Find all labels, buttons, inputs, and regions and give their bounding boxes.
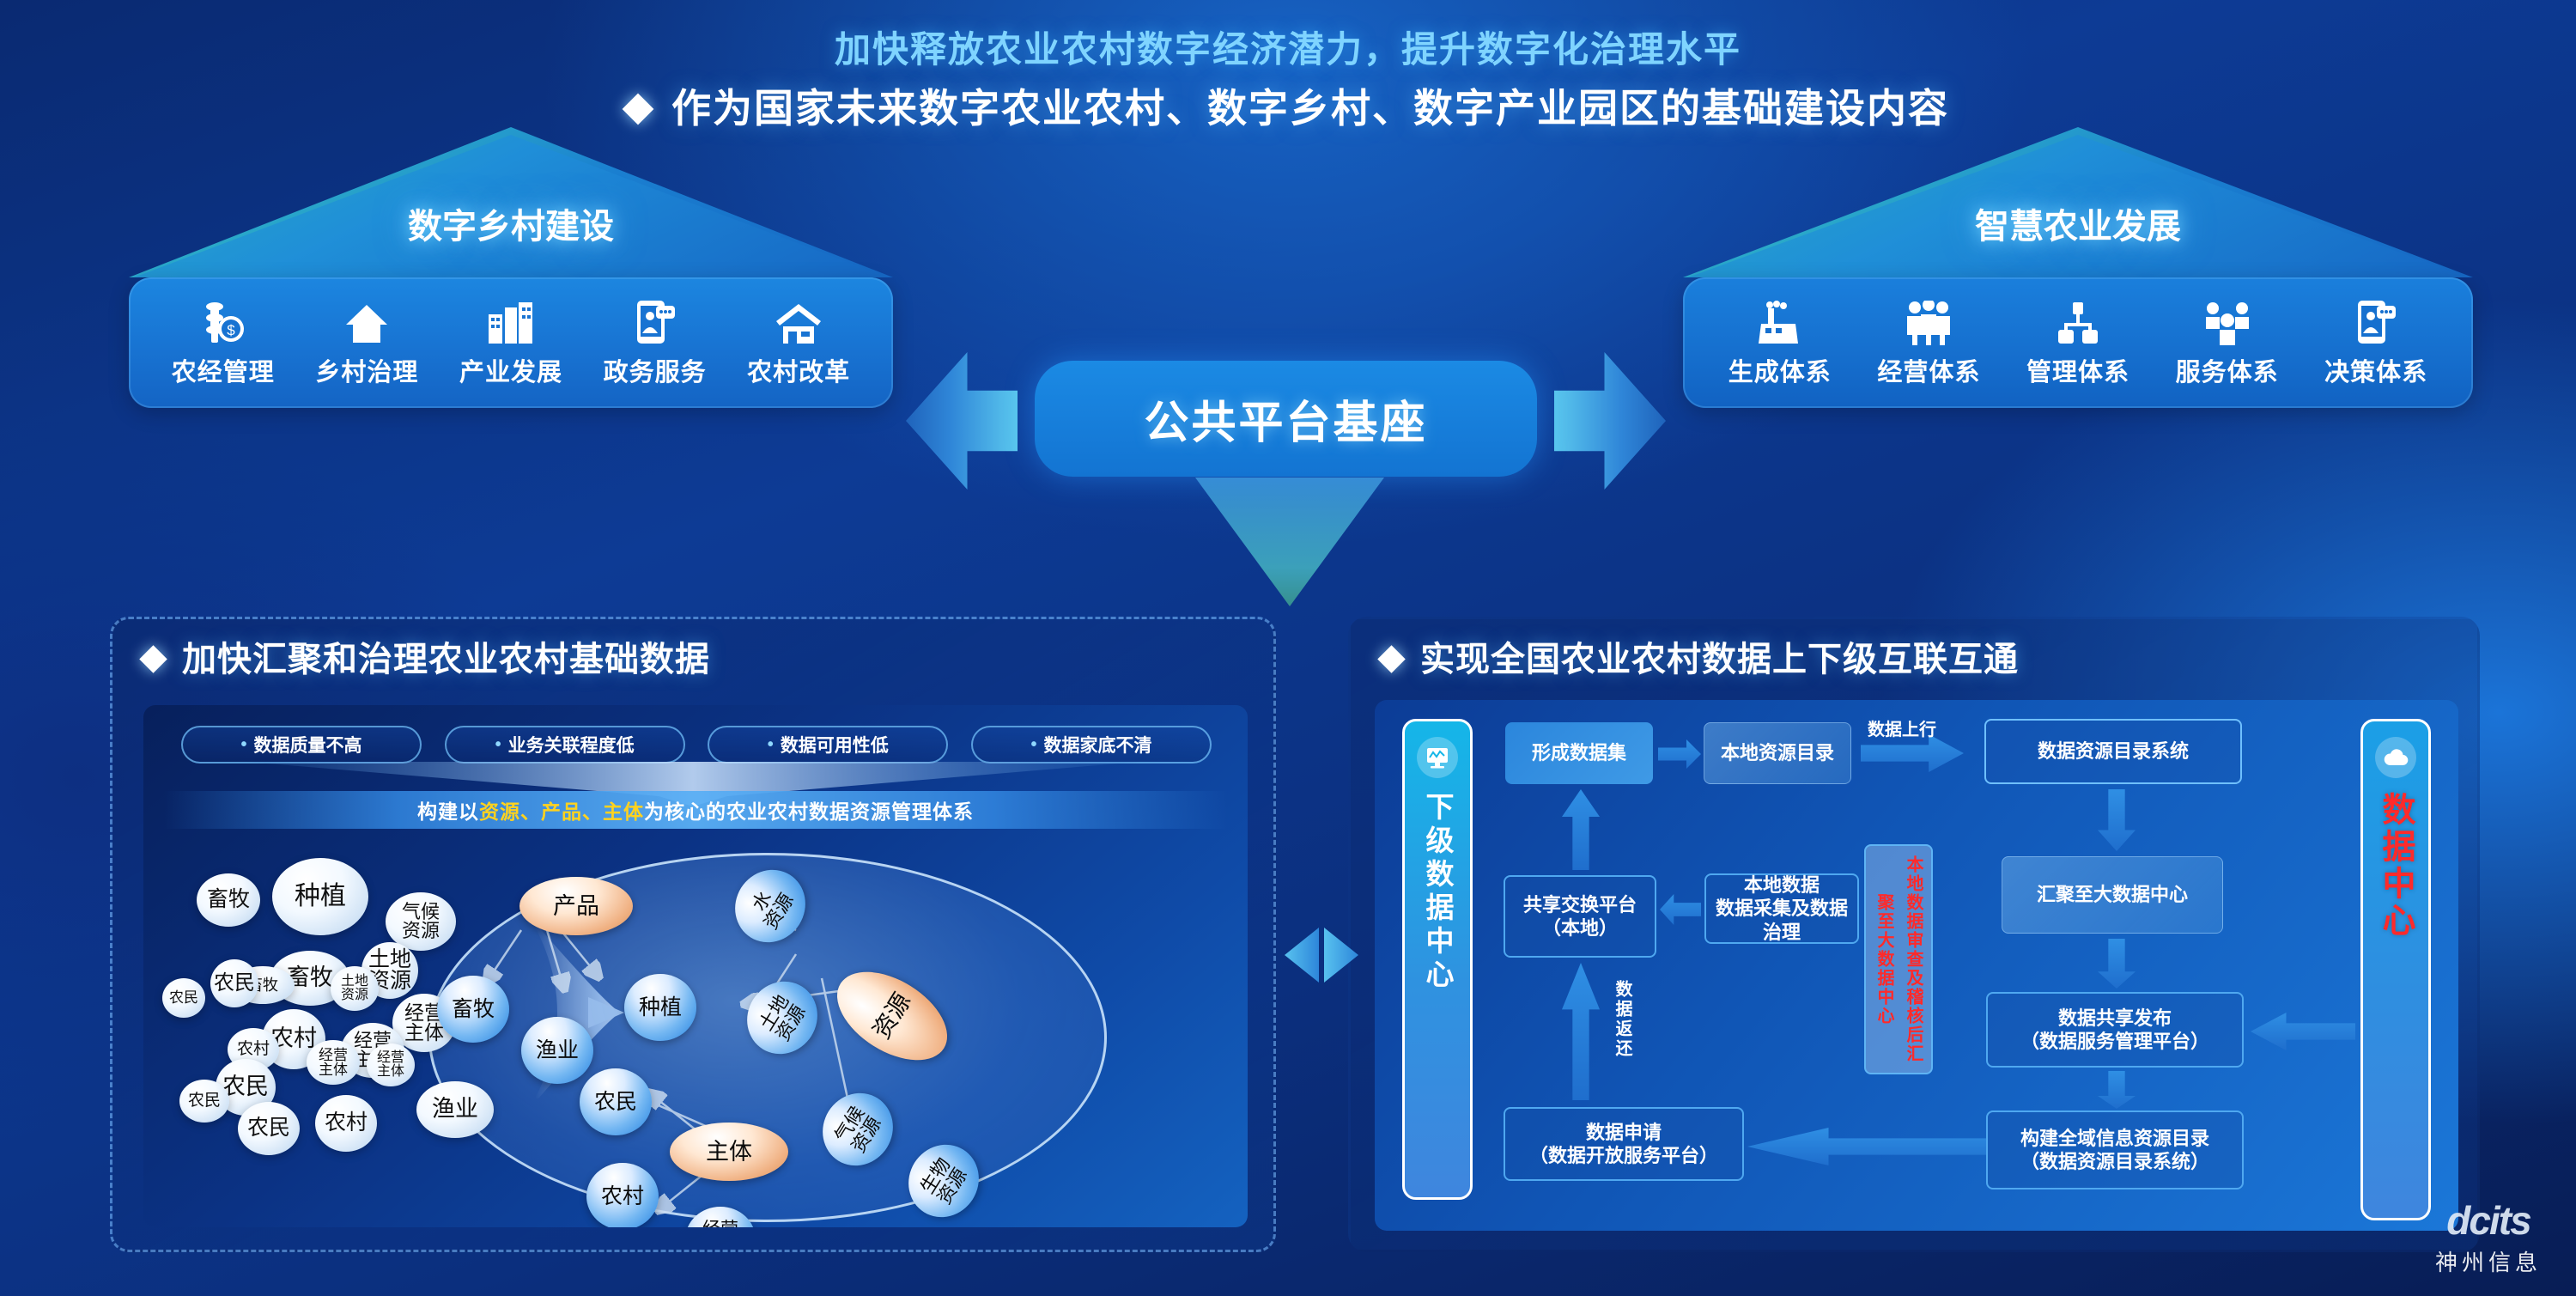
data-bubble: 农民 (162, 978, 205, 1018)
page-subtitle: 作为国家未来数字农业农村、数字乡村、数字产业园区的基础建设内容 (0, 77, 2576, 134)
page-subtitle-text: 作为国家未来数字农业农村、数字乡村、数字产业园区的基础建设内容 (671, 86, 1949, 131)
bidirectional-arrow-right (1324, 928, 1358, 983)
diamond-bullet-icon (623, 94, 654, 125)
arrow-aggregate-to-publish-icon (2098, 939, 2136, 989)
sidebar-item-fuwu[interactable]: 服务体系 (2163, 297, 2292, 388)
home-icon (302, 297, 431, 345)
company-logo: dcits 神州信息 (2435, 1197, 2542, 1277)
page-title: 加快释放农业农村数字经济潜力，提升数字化治理水平 (0, 21, 2576, 73)
sidebar-item-jingying[interactable]: 经营体系 (1864, 297, 1993, 388)
public-platform-base[interactable]: 公共平台基座 (1035, 361, 1537, 477)
arrow-right-icon (1554, 352, 1666, 490)
panel-right-heading: 实现全国农业农村数据上下级互联互通 (1382, 631, 2019, 681)
lower-data-center-label: 下级数据中心 (1417, 792, 1458, 993)
sidebar-item-xiangcun[interactable]: 乡村治理 (302, 297, 431, 388)
panel-left-heading-text: 加快汇聚和治理农业农村基础数据 (182, 641, 710, 678)
mobile-decision-icon (2312, 297, 2440, 345)
data-bubble: 农民 (179, 1080, 229, 1123)
arrow-global-to-request-icon (1747, 1128, 1986, 1165)
arrow-left-icon (906, 352, 1018, 490)
data-bubble: 农民 (238, 1102, 300, 1155)
panel-data-aggregation: 加快汇聚和治理农业农村基础数据 数据质量不高 业务关联程度低 数据可用性低 数据… (110, 617, 1276, 1252)
panel-left-board: 数据质量不高 业务关联程度低 数据可用性低 数据家底不清 构建以资源、产品、主体… (143, 705, 1248, 1227)
right-items-slab: 生成体系 经营体系 管理体系 服务体系 决策体系 (1683, 277, 2473, 408)
data-center-bar[interactable]: 数据中心 (2360, 719, 2431, 1220)
arrow-center-to-publish-icon (2251, 1013, 2355, 1050)
review-note-text: 本地数据审查及稽核后汇聚至大数据中心 (1869, 852, 1928, 1067)
sidebar-item-label: 产业发展 (447, 352, 575, 388)
ordered-data-node: 畜牧 (437, 976, 509, 1043)
flow-box-aggregate-center[interactable]: 汇聚至大数据中心 (2002, 856, 2223, 934)
sidebar-item-gaige[interactable]: 农村改革 (734, 297, 863, 388)
flow-box-form-dataset[interactable]: 形成数据集 (1505, 722, 1653, 784)
panel-left-heading: 加快汇聚和治理农业农村基础数据 (143, 631, 710, 681)
buildings-icon (447, 297, 575, 345)
digital-village-house: 数字乡村建设 $ 农经管理 乡村治理 产业发展 政务服务 (129, 127, 893, 408)
sidebar-item-label: 生成体系 (1716, 352, 1844, 388)
sidebar-item-label: 乡村治理 (302, 352, 431, 388)
panel-right-board: 下级数据中心 数据中心 形成数据集 本地资源目录 共享交换平台（本地） 本地数据… (1375, 700, 2458, 1231)
data-upload-label: 数据上行 (1868, 715, 1936, 740)
arrow-request-to-share-icon (1562, 963, 1600, 1100)
data-center-label: 数据中心 (2372, 792, 2420, 940)
ordered-data-node: 种植 (624, 974, 696, 1041)
data-bubble: 农民 (210, 959, 258, 1007)
sidebar-item-label: 决策体系 (2312, 352, 2440, 388)
flow-box-local-catalog[interactable]: 本地资源目录 (1704, 722, 1851, 784)
right-roof-label: 智慧农业发展 (1683, 198, 2473, 248)
svg-text:$: $ (227, 322, 235, 338)
sidebar-item-juece[interactable]: 决策体系 (2312, 297, 2440, 388)
review-note-box: 本地数据审查及稽核后汇聚至大数据中心 (1864, 844, 1933, 1074)
data-return-label: 数据返还 (1610, 980, 1635, 1092)
diamond-bullet-icon (139, 645, 167, 673)
sidebar-item-chanye[interactable]: 产业发展 (447, 297, 575, 388)
right-roof: 智慧农业发展 (1683, 127, 2473, 277)
arrow-catalog-to-aggregate-icon (2098, 789, 2136, 851)
diamond-bullet-icon (1377, 645, 1406, 673)
logo-mark: dcits (2435, 1197, 2542, 1244)
flow-box-global-catalog[interactable]: 构建全域信息资源目录（数据资源目录系统） (1986, 1110, 2244, 1190)
smart-agriculture-house: 智慧农业发展 生成体系 经营体系 管理体系 服务体系 (1683, 127, 2473, 408)
left-roof: 数字乡村建设 (129, 127, 893, 277)
data-bubble: 经营主体 (367, 1043, 415, 1086)
data-bubble: 农村 (315, 1095, 377, 1152)
left-items-slab: $ 农经管理 乡村治理 产业发展 政务服务 农村改革 (129, 277, 893, 408)
arrow-gov-to-share-icon (1660, 894, 1701, 925)
mobile-service-icon (591, 297, 720, 345)
ordered-data-node: 农民 (580, 1068, 652, 1135)
flow-box-catalog-system[interactable]: 数据资源目录系统 (1984, 719, 2242, 784)
data-bubble: 渔业 (416, 1081, 494, 1138)
sidebar-item-label: 服务体系 (2163, 352, 2292, 388)
sidebar-item-label: 农村改革 (734, 352, 863, 388)
left-roof-label: 数字乡村建设 (129, 198, 893, 248)
panel-right-heading-text: 实现全国农业农村数据上下级互联互通 (1420, 641, 2019, 678)
flow-box-data-request[interactable]: 数据申请（数据开放服务平台） (1504, 1107, 1744, 1181)
money-management-icon: $ (159, 297, 288, 345)
ordered-data-node: 产品 (519, 877, 633, 935)
arrow-share-to-dataset-icon (1562, 789, 1600, 870)
flow-box-share-platform[interactable]: 共享交换平台（本地） (1504, 875, 1656, 958)
panel-data-interconnection: 实现全国农业农村数据上下级互联互通 下级数据中心 数据中心 形成数据集 本地资源… (1348, 617, 2480, 1252)
sidebar-item-label: 农经管理 (159, 352, 288, 388)
sidebar-item-label: 经营体系 (1864, 352, 1993, 388)
sidebar-item-zhengwu[interactable]: 政务服务 (591, 297, 720, 388)
sidebar-item-shengcheng[interactable]: 生成体系 (1716, 297, 1844, 388)
lower-data-center-bar[interactable]: 下级数据中心 (1402, 719, 1473, 1200)
sidebar-item-label: 政务服务 (591, 352, 720, 388)
flow-box-share-publish[interactable]: 数据共享发布（数据服务管理平台） (1986, 992, 2244, 1068)
data-bubble: 土地资源 (331, 966, 379, 1011)
logo-cn-name: 神州信息 (2435, 1245, 2542, 1277)
flow-box-local-data-gov[interactable]: 本地数据数据采集及数据治理 (1704, 873, 1859, 944)
sidebar-item-guanli[interactable]: 管理体系 (2014, 297, 2142, 388)
org-chart-icon (2014, 297, 2142, 345)
cloud-icon (2375, 737, 2416, 778)
house-reform-icon (734, 297, 863, 345)
ordered-data-node: 农村 (586, 1163, 659, 1227)
ordered-data-node: 渔业 (521, 1017, 593, 1084)
data-bubble: 种植 (272, 858, 368, 935)
people-group-icon (1864, 297, 1993, 345)
bidirectional-arrow-icon (1285, 928, 1358, 988)
data-bubble: 气候资源 (386, 892, 456, 951)
platform-label: 公共平台基座 (1144, 386, 1427, 451)
sidebar-item-nongjing[interactable]: $ 农经管理 (159, 297, 288, 388)
data-bubble: 经营主体 (307, 1040, 360, 1085)
arrow-publish-to-global-icon (2098, 1071, 2136, 1109)
factory-icon (1716, 297, 1844, 345)
sidebar-item-label: 管理体系 (2014, 352, 2142, 388)
service-people-icon (2163, 297, 2292, 345)
bidirectional-arrow-left (1285, 928, 1319, 983)
ordered-data-node: 主体 (670, 1123, 788, 1181)
monitor-chart-icon (1417, 737, 1458, 778)
arrow-down-icon (1195, 478, 1384, 606)
arrow-dataset-to-catalog-icon (1658, 739, 1701, 769)
